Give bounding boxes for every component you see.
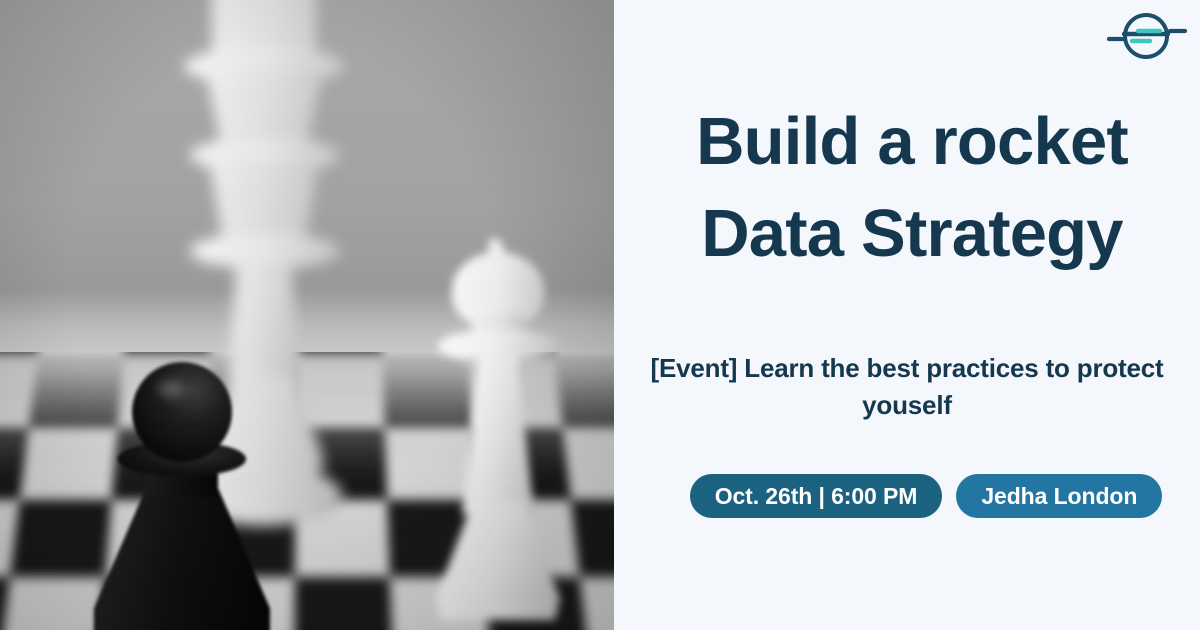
event-banner: Build a rocket Data Strategy [Event] Lea… <box>0 0 1200 630</box>
king-taper-middle <box>210 164 318 244</box>
headline-line-2: Data Strategy <box>648 188 1176 280</box>
black-pawn-piece <box>84 362 276 630</box>
chess-pieces-photo <box>0 0 614 630</box>
badge-row: Oct. 26th | 6:00 PM Jedha London <box>614 474 1200 518</box>
pawn-head <box>132 362 232 462</box>
page-title: Build a rocket Data Strategy <box>648 96 1176 281</box>
bishop-base <box>436 500 560 620</box>
status-badge-location: Jedha London <box>956 474 1162 518</box>
bishop-body <box>462 354 534 514</box>
pawn-body <box>94 486 270 630</box>
pawn-highlight <box>158 380 184 398</box>
status-badge-date: Oct. 26th | 6:00 PM <box>690 474 943 518</box>
content-panel: Build a rocket Data Strategy [Event] Lea… <box>614 0 1200 630</box>
jedha-logo-icon <box>1100 8 1192 64</box>
white-bishop-piece <box>426 238 572 630</box>
headline-line-1: Build a rocket <box>648 96 1176 188</box>
event-subtitle: [Event] Learn the best practices to prot… <box>632 350 1182 424</box>
